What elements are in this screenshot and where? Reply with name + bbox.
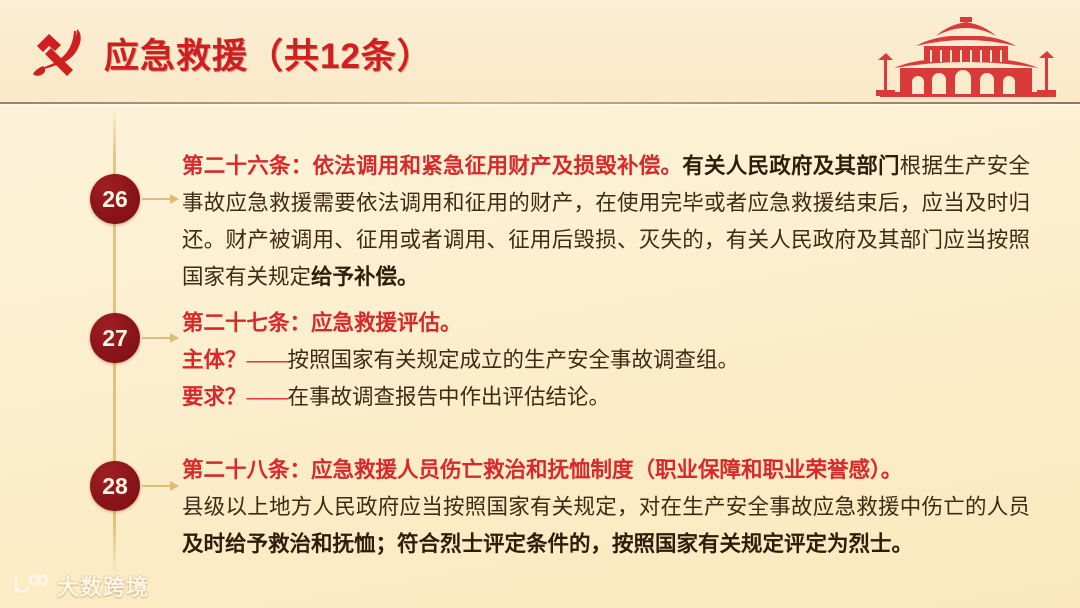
article-bold-lead-26: 有关人民政府及其部门 [682,154,900,178]
watermark-text: 大数跨境 [57,570,149,602]
article-27-line-2-dash: —— [247,385,288,409]
timeline-node-number: 26 [102,186,128,213]
timeline-node-28[interactable]: 28 [90,461,140,511]
article-27-line-1-dash: —— [247,348,288,372]
right-arrow-icon-26 [142,198,178,200]
page-title: 应急救援（共12条） [104,28,433,79]
article-block-28: 第二十八条：应急救援人员伤亡救治和抚恤制度（职业保障和职业荣誉感）。 县级以上地… [182,452,1030,563]
article-body-28: 县级以上地方人民政府应当按照国家有关规定，对在生产安全事故应急救援中伤亡的人员 [182,495,1030,519]
article-heading-27: 第二十七条：应急救援评估。 [182,311,462,335]
article-block-26: 第二十六条：依法调用和紧急征用财产及损毁补偿。有关人民政府及其部门根据生产安全事… [182,148,1030,296]
timeline-node-27[interactable]: 27 [90,313,140,363]
right-arrow-icon-28 [142,485,178,487]
header-bar: 应急救援（共12条） [0,0,1080,104]
tiananmen-gate-illustration-icon [860,6,1072,104]
article-27-line-2-text: 在事故调查报告中作出评估结论。 [288,385,611,409]
article-27-line-1-text: 按照国家有关规定成立的生产安全事故调查组。 [288,348,740,372]
article-bold-28: 及时给予救治和抚恤；符合烈士评定条件的，按照国家有关规定评定为烈士。 [182,532,913,556]
article-heading-26: 第二十六条：依法调用和紧急征用财产及损毁补偿。 [182,154,682,178]
article-27-line-1-label: 主体？ [182,348,247,372]
party-hammer-sickle-emblem-icon [27,22,89,84]
article-27-line-2-label: 要求？ [182,385,247,409]
timeline-node-number: 27 [102,325,128,352]
article-block-27: 第二十七条：应急救援评估。 主体？——按照国家有关规定成立的生产安全事故调查组。… [182,305,1030,416]
right-arrow-icon-27 [142,337,178,339]
watermark: 大数跨境 [10,570,149,602]
header-divider-highlight [0,104,1080,107]
dashu-kuajing-logo-icon [10,573,50,599]
article-heading-28: 第二十八条：应急救援人员伤亡救治和抚恤制度（职业保障和职业荣誉感）。 [182,458,902,482]
article-bold-tail-26: 给予补偿。 [311,265,419,289]
timeline-node-number: 28 [102,473,128,500]
slide-canvas: 应急救援（共12条） [0,0,1080,608]
timeline-node-26[interactable]: 26 [90,174,140,224]
